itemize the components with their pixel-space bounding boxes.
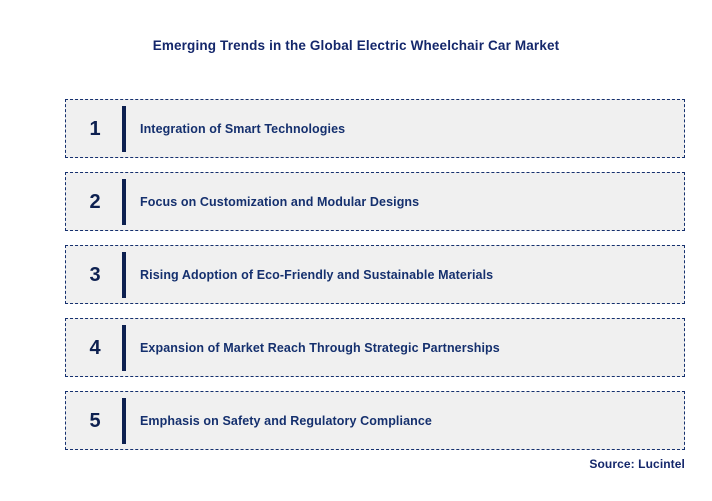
- trend-number: 1: [66, 119, 122, 139]
- trend-label: Focus on Customization and Modular Desig…: [126, 195, 419, 209]
- trend-number: 3: [66, 265, 122, 285]
- trend-number: 2: [66, 192, 122, 212]
- trend-row[interactable]: 5 Emphasis on Safety and Regulatory Comp…: [65, 391, 685, 450]
- trend-list: 1 Integration of Smart Technologies 2 Fo…: [65, 99, 685, 450]
- source-note: Source: Lucintel: [589, 457, 685, 471]
- trend-label: Expansion of Market Reach Through Strate…: [126, 341, 500, 355]
- trend-label: Rising Adoption of Eco-Friendly and Sust…: [126, 268, 493, 282]
- infographic-page: Emerging Trends in the Global Electric W…: [0, 0, 712, 501]
- trend-number: 5: [66, 411, 122, 431]
- trend-row[interactable]: 2 Focus on Customization and Modular Des…: [65, 172, 685, 231]
- trend-label: Integration of Smart Technologies: [126, 122, 345, 136]
- page-title: Emerging Trends in the Global Electric W…: [0, 38, 712, 53]
- trend-row[interactable]: 3 Rising Adoption of Eco-Friendly and Su…: [65, 245, 685, 304]
- trend-row[interactable]: 1 Integration of Smart Technologies: [65, 99, 685, 158]
- trend-row[interactable]: 4 Expansion of Market Reach Through Stra…: [65, 318, 685, 377]
- trend-number: 4: [66, 338, 122, 358]
- trend-label: Emphasis on Safety and Regulatory Compli…: [126, 414, 432, 428]
